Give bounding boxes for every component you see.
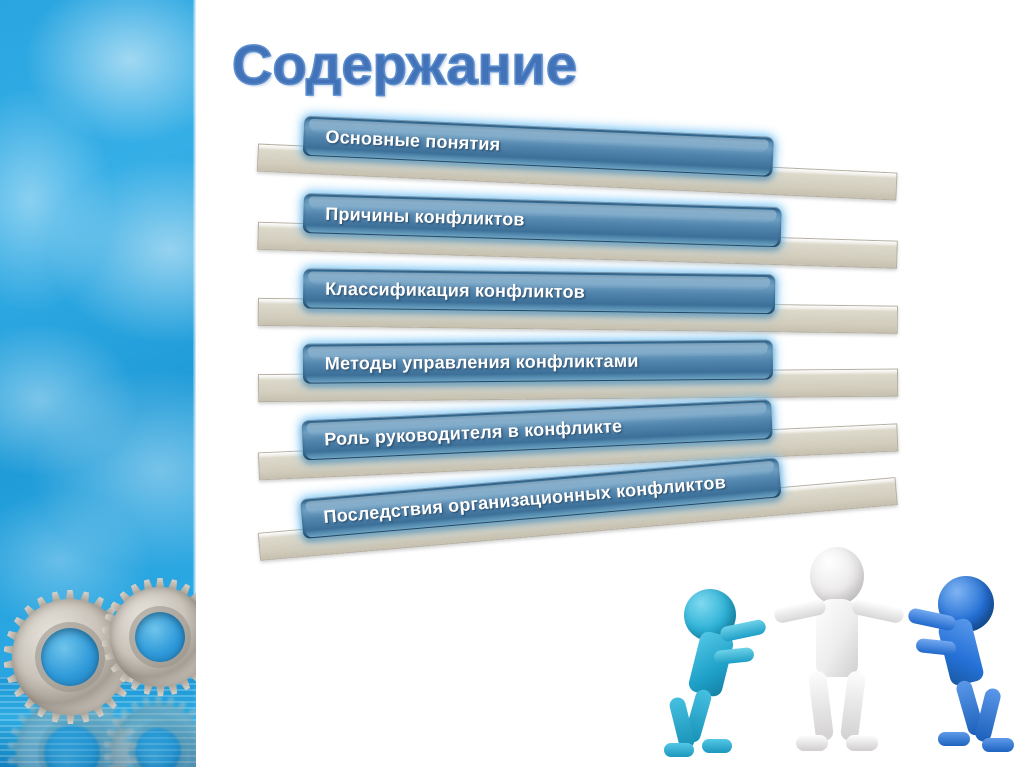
list-item-label: Роль руководителя в конфликте (302, 415, 623, 451)
figure-foot-left (796, 735, 828, 751)
list-item-label: Основные понятия (303, 125, 501, 155)
figure-arm-fist (713, 647, 754, 665)
figure-arm-fist (915, 638, 956, 656)
gear-hole (135, 728, 181, 767)
list-item-label: Причины конфликтов (303, 203, 525, 231)
gear-small (110, 587, 196, 687)
list-item[interactable]: Классификация конфликтов (196, 263, 917, 346)
figure-foot-back (664, 743, 694, 757)
figure-foot-back (982, 738, 1014, 752)
figure-leg-left (808, 670, 834, 742)
figure-head (810, 547, 864, 605)
gears-image (0, 567, 196, 767)
gear-hole (41, 628, 99, 686)
figure-leg-right (840, 670, 866, 742)
right-fighter-figure (890, 562, 1010, 767)
sidebar-blue-band (0, 0, 196, 767)
list-item-label: Классификация конфликтов (303, 278, 585, 302)
item-capsule[interactable]: Методы управления конфликтами (303, 340, 773, 384)
stick-figures-illustration (664, 537, 1024, 767)
figure-foot-right (846, 735, 878, 751)
figure-foot-front (938, 732, 970, 746)
mediator-figure (776, 547, 906, 767)
gear-hole (135, 612, 185, 662)
presentation-slide: Содержание Основные понятия Причины конф… (0, 0, 1024, 767)
gear-reflection-small (112, 705, 196, 767)
list-item-label: Методы управления конфликтами (303, 350, 639, 374)
figure-foot-front (702, 739, 732, 753)
item-capsule[interactable]: Классификация конфликтов (303, 268, 775, 314)
